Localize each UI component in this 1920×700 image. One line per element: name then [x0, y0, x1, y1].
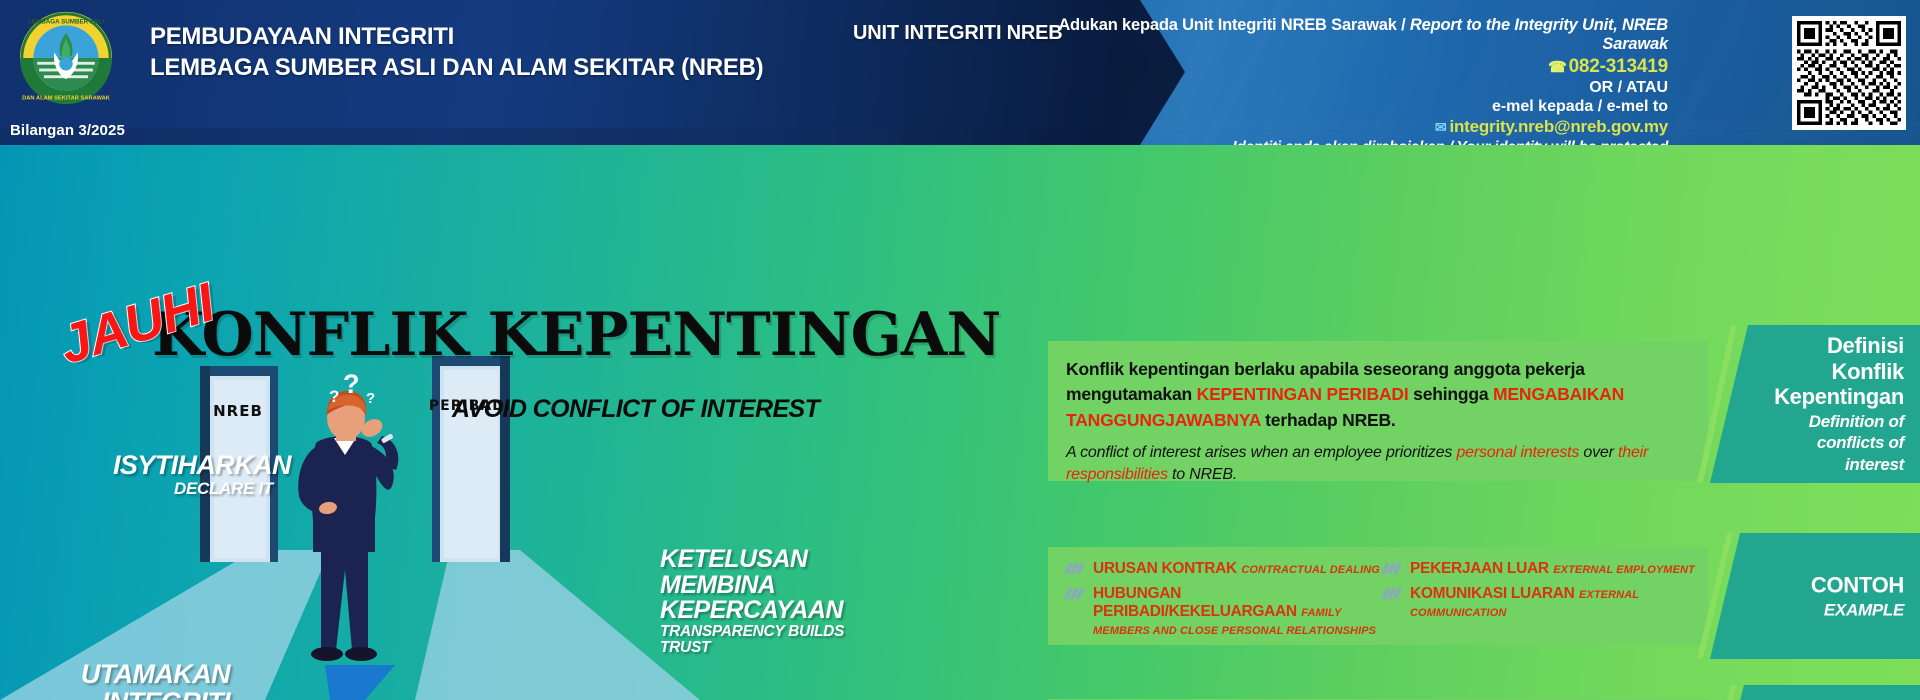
example-text: URUSAN KONTRAK CONTRACTUAL DEALING — [1093, 560, 1380, 578]
or-separator: OR / ATAU — [1028, 79, 1668, 97]
org-title-line1: PEMBUDAYAAN INTEGRITI — [150, 21, 763, 52]
example-title: HUBUNGAN PERIBADI/KEKELUARGAAN — [1093, 585, 1297, 620]
definition-text-ms: Konflik kepentingan berlaku apabila sese… — [1066, 357, 1694, 433]
definition-tab: Definisi Konflik Kepentingan Definition … — [1710, 325, 1920, 483]
label-declare-ms: ISYTIHARKAN — [113, 452, 273, 480]
example-title: KOMUNIKASI LUARAN — [1410, 585, 1575, 602]
svg-text:?: ? — [329, 387, 339, 406]
nreb-logo-svg: LEMBAGA SUMBER ASLI DAN ALAM SEKITAR SAR… — [18, 10, 114, 106]
examples-tab-title: CONTOH — [1811, 572, 1904, 598]
definition-tab-sub-l3: interest — [1774, 455, 1904, 475]
definition-en-part-a: A conflict of interest arises when an em… — [1066, 444, 1456, 461]
definition-ms-part-c: terhadap NREB. — [1261, 410, 1396, 430]
definition-en-part-b: over — [1579, 444, 1618, 461]
email-address: integrity.nreb@nreb.gov.my — [1449, 117, 1668, 136]
definition-ms-highlight-1: KEPENTINGAN PERIBADI — [1197, 384, 1409, 404]
page-header: LEMBAGA SUMBER ASLI DAN ALAM SEKITAR SAR… — [0, 0, 1920, 145]
page-title: KONFLIK KEPENTINGAN — [152, 300, 1000, 370]
example-text: KOMUNIKASI LUARAN EXTERNAL COMMUNICATION — [1410, 585, 1698, 621]
phone-line[interactable]: ☎082-313419 — [1028, 56, 1668, 78]
businessman-figure — [298, 391, 398, 661]
example-title: URUSAN KONTRAK — [1093, 560, 1237, 577]
action-tab-edge — [1697, 685, 1737, 700]
arrows-icon — [1381, 585, 1405, 599]
report-line-en: Report to the Integrity Unit, NREB Saraw… — [1410, 16, 1668, 53]
definition-tab-sub-l1: Definition of — [1774, 411, 1904, 431]
arrows-icon — [1064, 585, 1088, 599]
label-trust-ms-l2: KEPERCAYAAN — [660, 598, 890, 624]
examples-column-right: PEKERJAAN LUAR EXTERNAL EMPLOYMENT KOMUN… — [1381, 560, 1698, 646]
label-declare: ISYTIHARKAN DECLARE IT — [113, 452, 273, 497]
example-text: HUBUNGAN PERIBADI/KEKELUARGAAN FAMILY ME… — [1093, 585, 1381, 639]
label-transparency: KETELUSAN MEMBINA KEPERCAYAAN TRANSPAREN… — [660, 547, 890, 656]
svg-text:DAN ALAM SEKITAR SARAWAK: DAN ALAM SEKITAR SARAWAK — [22, 95, 111, 101]
definition-tab-title-l3: Kepentingan — [1774, 384, 1904, 410]
email-label: e-mel kepada / e-mel to — [1028, 98, 1668, 116]
example-subtitle: EXTERNAL EMPLOYMENT — [1553, 564, 1695, 576]
example-item: URUSAN KONTRAK CONTRACTUAL DEALING — [1064, 560, 1381, 578]
example-text: PEKERJAAN LUAR EXTERNAL EMPLOYMENT — [1410, 560, 1695, 578]
arrows-icon — [1064, 560, 1088, 574]
qr-code-svg — [1797, 21, 1901, 125]
org-title-block: PEMBUDAYAAN INTEGRITI LEMBAGA SUMBER ASL… — [150, 21, 763, 83]
door-left-label: NREB — [213, 402, 263, 420]
phone-icon: ☎ — [1548, 59, 1566, 76]
label-integrity-ms: UTAMAKAN INTEGRITI — [30, 661, 230, 700]
example-title: PEKERJAAN LUAR — [1410, 560, 1549, 577]
definition-tab-sub-l2: conflicts of — [1774, 433, 1904, 453]
qr-code[interactable] — [1792, 16, 1906, 130]
arrows-icon — [1381, 560, 1405, 574]
definition-card: Konflik kepentingan berlaku apabila sese… — [1048, 341, 1708, 481]
definition-en-highlight-1: personal interests — [1456, 444, 1579, 461]
definition-ms-part-b: sehingga — [1409, 384, 1494, 404]
definition-en-part-c: to NREB. — [1168, 466, 1237, 483]
example-item: HUBUNGAN PERIBADI/KEKELUARGAAN FAMILY ME… — [1064, 585, 1381, 639]
examples-grid: URUSAN KONTRAK CONTRACTUAL DEALING HUBUN… — [1064, 560, 1698, 646]
example-item: KOMUNIKASI LUARAN EXTERNAL COMMUNICATION — [1381, 585, 1698, 621]
example-subtitle: CONTRACTUAL DEALING — [1241, 564, 1380, 576]
poster-stage: NREB PERIBADI — [0, 145, 1920, 700]
definition-tab-title-l1: Definisi — [1774, 333, 1904, 359]
envelope-icon: ✉ — [1435, 119, 1447, 135]
definition-text-en: A conflict of interest arises when an em… — [1066, 442, 1694, 486]
svg-text:?: ? — [366, 390, 375, 407]
svg-text:LEMBAGA SUMBER ASLI: LEMBAGA SUMBER ASLI — [28, 18, 104, 25]
label-trust-en: TRANSPARENCY BUILDS TRUST — [660, 624, 890, 657]
examples-tab-inner: CONTOH EXAMPLE — [1811, 572, 1904, 619]
email-line[interactable]: ✉integrity.nreb@nreb.gov.my — [1028, 117, 1668, 137]
org-title-line2: LEMBAGA SUMBER ASLI DAN ALAM SEKITAR (NR… — [150, 52, 763, 83]
examples-tab: CONTOH EXAMPLE — [1710, 533, 1920, 659]
label-integrity-first: UTAMAKAN INTEGRITI INTEGRITY FIRST — [30, 661, 230, 700]
definition-tab-title-l2: Konflik — [1774, 358, 1904, 384]
issue-number: Bilangan 3/2025 — [10, 122, 125, 139]
report-line-ms: Adukan kepada Unit Integriti NREB Sarawa… — [1058, 16, 1410, 34]
contact-block: Adukan kepada Unit Integriti NREB Sarawa… — [1028, 16, 1668, 145]
definition-card-body: Konflik kepentingan berlaku apabila sese… — [1066, 357, 1694, 486]
examples-column-left: URUSAN KONTRAK CONTRACTUAL DEALING HUBUN… — [1064, 560, 1381, 646]
nreb-logo-icon: LEMBAGA SUMBER ASLI DAN ALAM SEKITAR SAR… — [18, 10, 114, 106]
phone-number: 082-313419 — [1569, 56, 1668, 77]
definition-tab-inner: Definisi Konflik Kepentingan Definition … — [1774, 333, 1904, 475]
example-item: PEKERJAAN LUAR EXTERNAL EMPLOYMENT — [1381, 560, 1698, 578]
report-line: Adukan kepada Unit Integriti NREB Sarawa… — [1028, 16, 1668, 54]
svg-text:?: ? — [343, 369, 360, 399]
action-tab: Tindakan Action step — [1710, 685, 1920, 700]
examples-card: URUSAN KONTRAK CONTRACTUAL DEALING HUBUN… — [1048, 547, 1708, 645]
page-subtitle: AVOID CONFLICT OF INTEREST — [452, 395, 819, 424]
label-declare-en: DECLARE IT — [113, 480, 273, 498]
label-trust-ms-l1: KETELUSAN MEMBINA — [660, 547, 890, 598]
examples-tab-sub: EXAMPLE — [1811, 600, 1904, 620]
